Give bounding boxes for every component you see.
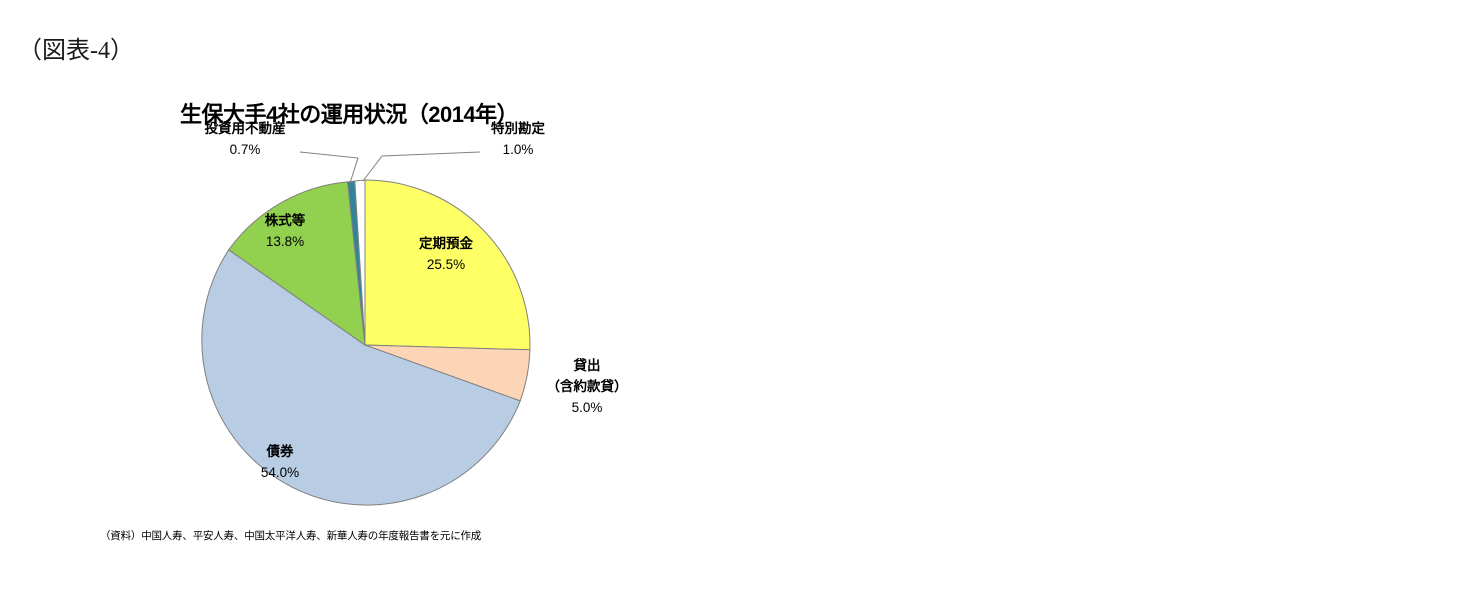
pie-label-kabushiki-name: 株式等	[265, 212, 306, 228]
source-note-4: （資料）中国人寿、平安人寿、中国太平洋人寿、新華人寿の年度報告書を元に作成	[100, 528, 481, 543]
pie-label-tokubetsu-kanjo-value: 1.0%	[503, 142, 534, 157]
pie-label-saiken-value: 54.0%	[261, 465, 299, 480]
figure-4-panel: （図表-4） 生保大手4社の運用状況（2014年） 定期預金 25.5% 債券 …	[0, 0, 740, 595]
pie-label-kabushiki-value: 13.8%	[266, 234, 304, 249]
pie-label-tokubetsu-kanjo-name: 特別勘定	[491, 120, 545, 136]
pie-label-toshiyo-fudosan-name: 投資用不動産	[205, 120, 286, 136]
pie-label-kashidashi-value: 5.0%	[572, 400, 603, 415]
pie-label-teiki-yokin-name: 定期預金	[419, 235, 473, 251]
figure-tag-4: （図表-4）	[18, 30, 134, 65]
pie-label-kashidashi-name-2: （含約款貸）	[547, 378, 628, 394]
figure-5-panel: （図表-5） 債券運用の内訳（2014年） 政府債 24.2% 金融債	[740, 0, 1465, 595]
leader-line-fudosan	[300, 152, 358, 183]
pie-label-toshiyo-fudosan-value: 0.7%	[230, 142, 261, 157]
pie-label-saiken-name: 債券	[266, 443, 294, 459]
pie-label-toshiyo-fudosan: 投資用不動産 0.7%	[205, 120, 286, 157]
leader-line-tokubetsu	[363, 152, 480, 181]
pie-label-kashidashi-name-1: 貸出	[573, 357, 601, 373]
pie-label-tokubetsu-kanjo: 特別勘定 1.0%	[491, 120, 545, 157]
pie-label-kashidashi: 貸出 （含約款貸） 5.0%	[547, 357, 628, 415]
pie-label-teiki-yokin-value: 25.5%	[427, 257, 465, 272]
pie-chart-asset-allocation: 定期預金 25.5% 債券 54.0% 株式等 13.8% 投資用不動産 0.7…	[150, 140, 610, 530]
